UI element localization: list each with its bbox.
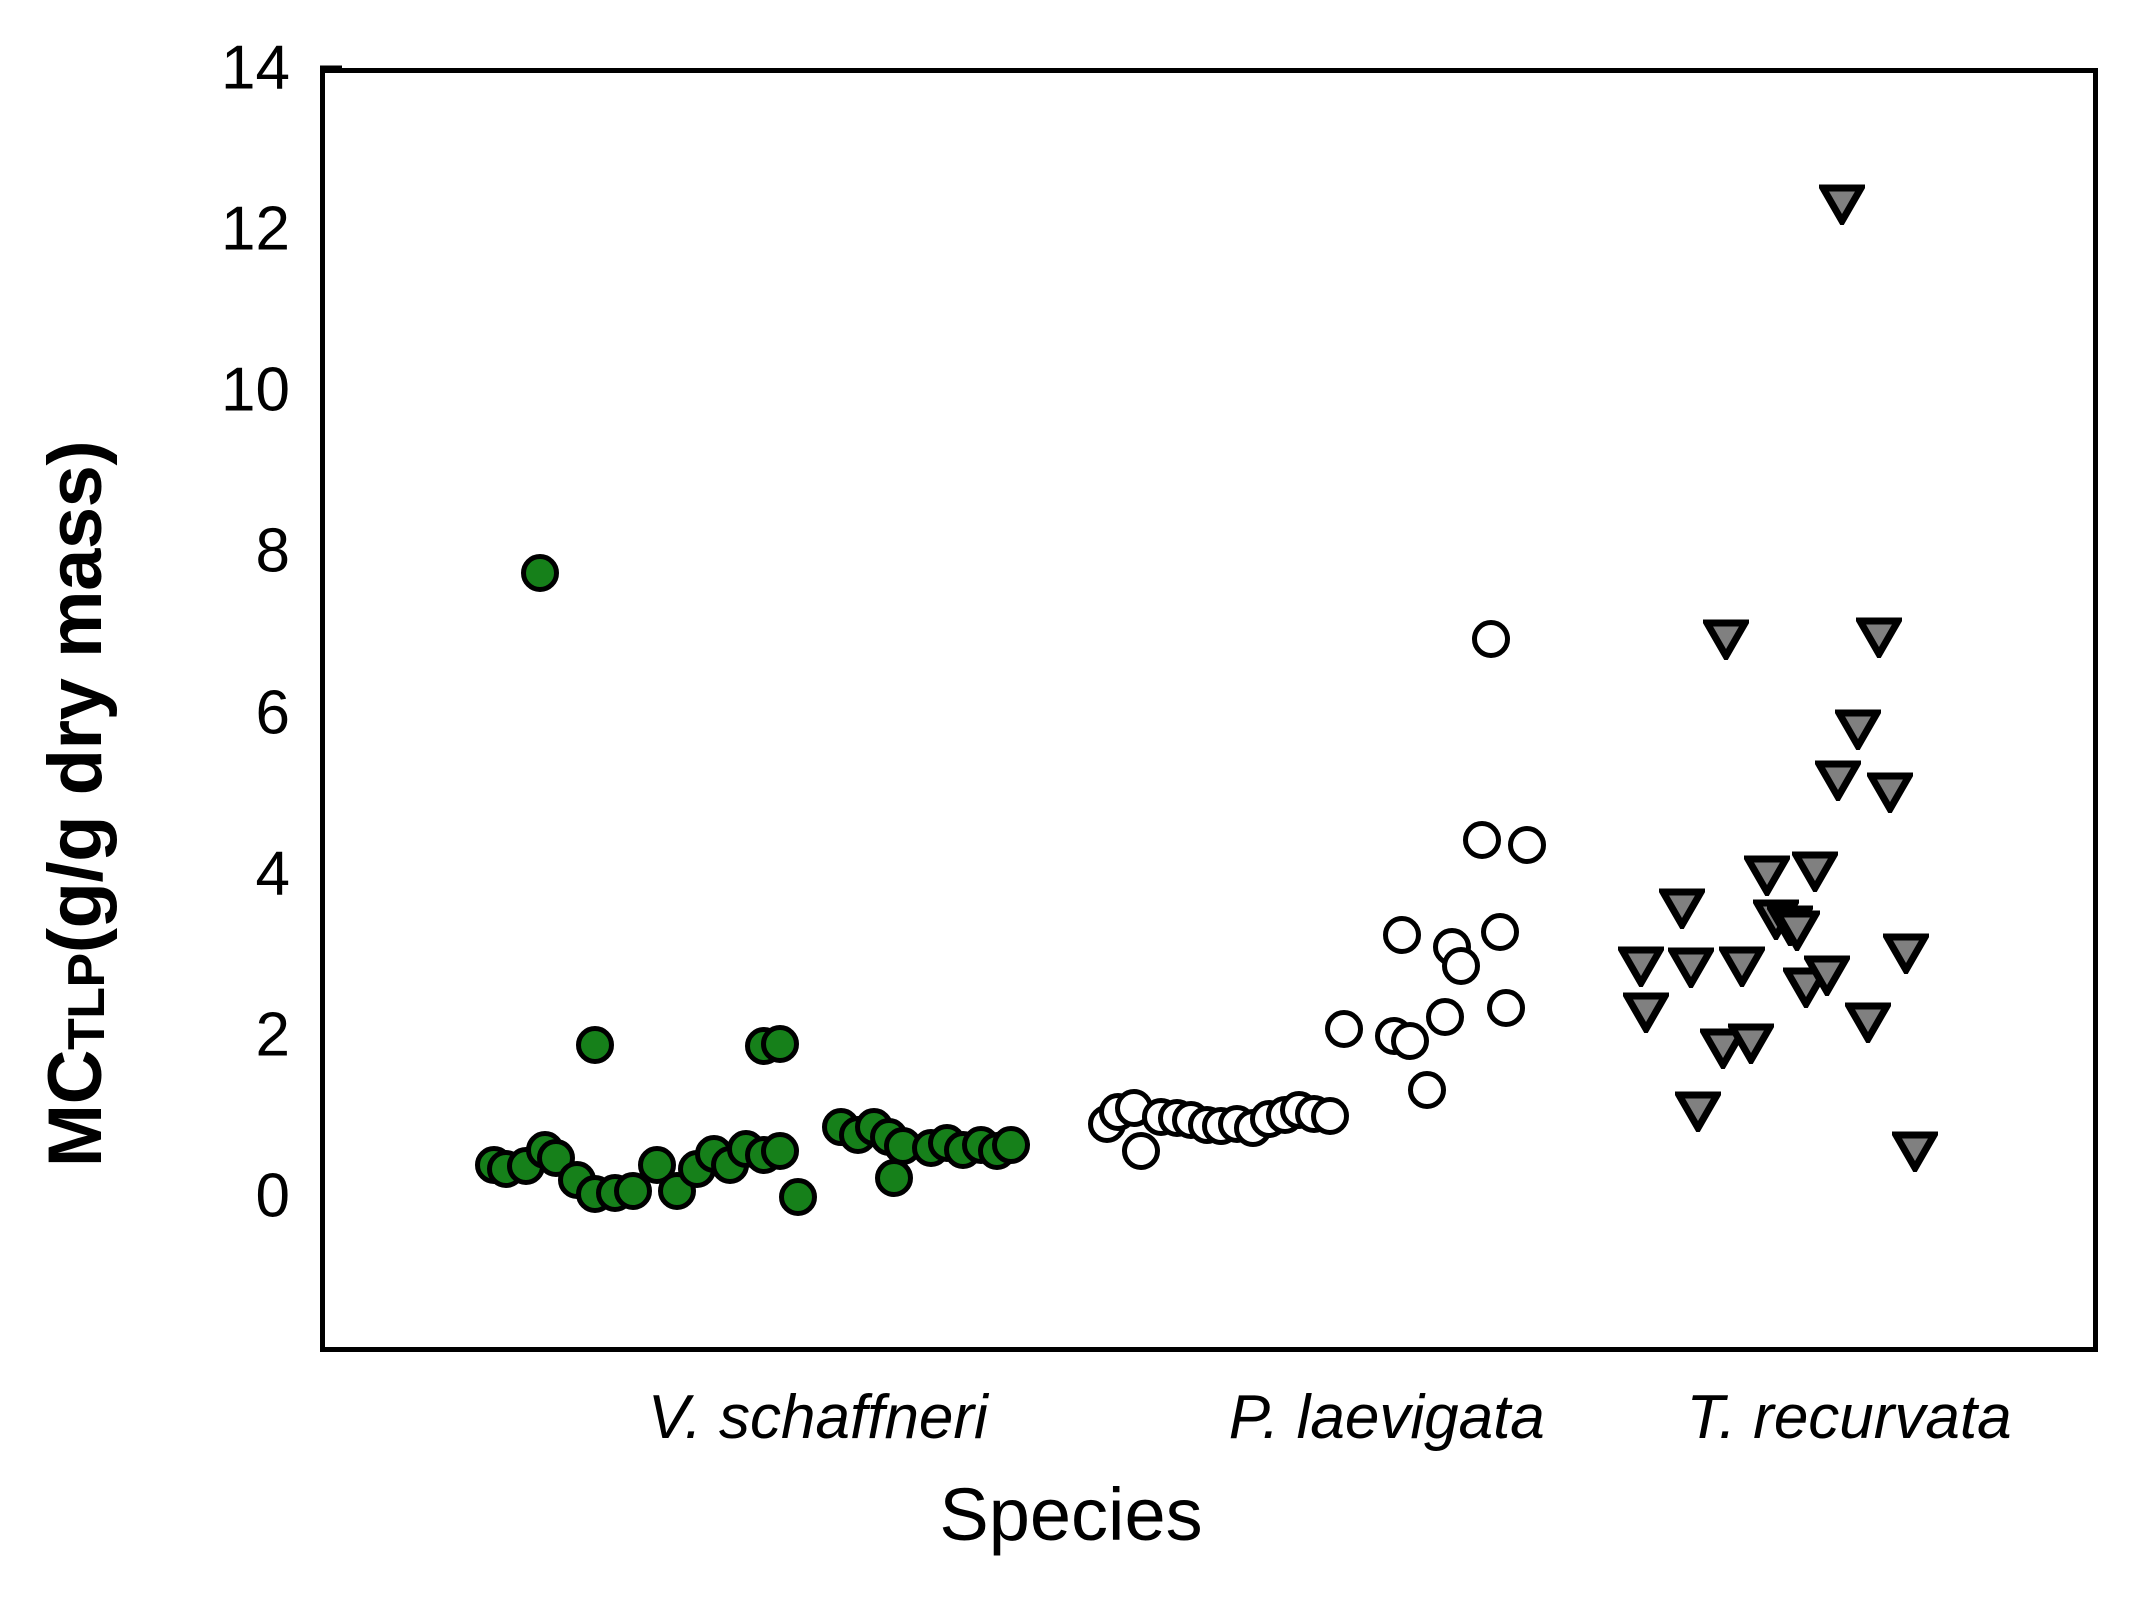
data-point <box>1774 909 1820 951</box>
data-point <box>1383 916 1421 954</box>
data-point <box>1463 821 1501 859</box>
data-point <box>779 1178 817 1216</box>
plot-area <box>320 68 2098 1352</box>
data-point <box>1883 932 1929 974</box>
data-points-layer <box>325 73 2093 1347</box>
data-point <box>1819 183 1865 225</box>
data-point <box>1792 850 1838 892</box>
data-point <box>1835 708 1881 750</box>
y-axis-label-subscript: TLP <box>57 953 117 1050</box>
figure-canvas: MCTLP (g/g dry mass) 14121086420 V. scha… <box>0 0 2142 1608</box>
data-point <box>521 554 559 592</box>
y-tick-label: 12 <box>150 194 290 265</box>
data-point <box>1442 947 1480 985</box>
data-point <box>1845 1001 1891 1043</box>
y-axis-label-units: (g/g dry mass) <box>32 441 119 953</box>
data-point <box>1508 826 1546 864</box>
y-tick-label: 6 <box>150 677 290 748</box>
data-point <box>1668 946 1714 988</box>
data-point <box>1122 1132 1160 1170</box>
data-point <box>1804 954 1850 996</box>
data-point <box>1426 998 1464 1036</box>
data-point <box>1719 945 1765 987</box>
data-point <box>992 1126 1030 1164</box>
x-category-label-3: T. recurvata <box>1687 1382 2012 1453</box>
data-point <box>1815 759 1861 801</box>
y-tick-label: 8 <box>150 516 290 587</box>
y-tick-label: 0 <box>150 1161 290 1232</box>
data-point <box>1472 620 1510 658</box>
data-point <box>1325 1010 1363 1048</box>
data-point <box>1659 887 1705 929</box>
x-axis-label: Species <box>0 1472 2142 1557</box>
data-point <box>761 1025 799 1063</box>
data-point <box>875 1159 913 1197</box>
y-axis-label-main: MC <box>32 1050 119 1167</box>
data-point <box>1867 771 1913 813</box>
data-point <box>1311 1097 1349 1135</box>
data-point <box>1856 616 1902 658</box>
y-tick-label: 14 <box>150 33 290 104</box>
data-point <box>1623 991 1669 1033</box>
y-tick-label: 10 <box>150 355 290 426</box>
data-point <box>576 1026 614 1064</box>
data-point <box>1391 1022 1429 1060</box>
data-point <box>1487 989 1525 1027</box>
data-point <box>1744 854 1790 896</box>
data-point <box>1481 913 1519 951</box>
y-tick-label: 4 <box>150 838 290 909</box>
y-tick-label-group: 14121086420 <box>150 0 290 1608</box>
data-point <box>761 1132 799 1170</box>
data-point <box>1618 945 1664 987</box>
data-point <box>1703 618 1749 660</box>
x-category-label-2: P. laevigata <box>1229 1382 1545 1453</box>
y-axis-label: MCTLP (g/g dry mass) <box>0 0 150 1608</box>
y-tick-label: 2 <box>150 999 290 1070</box>
data-point <box>1408 1071 1446 1109</box>
data-point <box>1892 1130 1938 1172</box>
data-point <box>1675 1090 1721 1132</box>
data-point <box>1728 1022 1774 1064</box>
x-category-label-1: V. schaffneri <box>648 1382 988 1453</box>
